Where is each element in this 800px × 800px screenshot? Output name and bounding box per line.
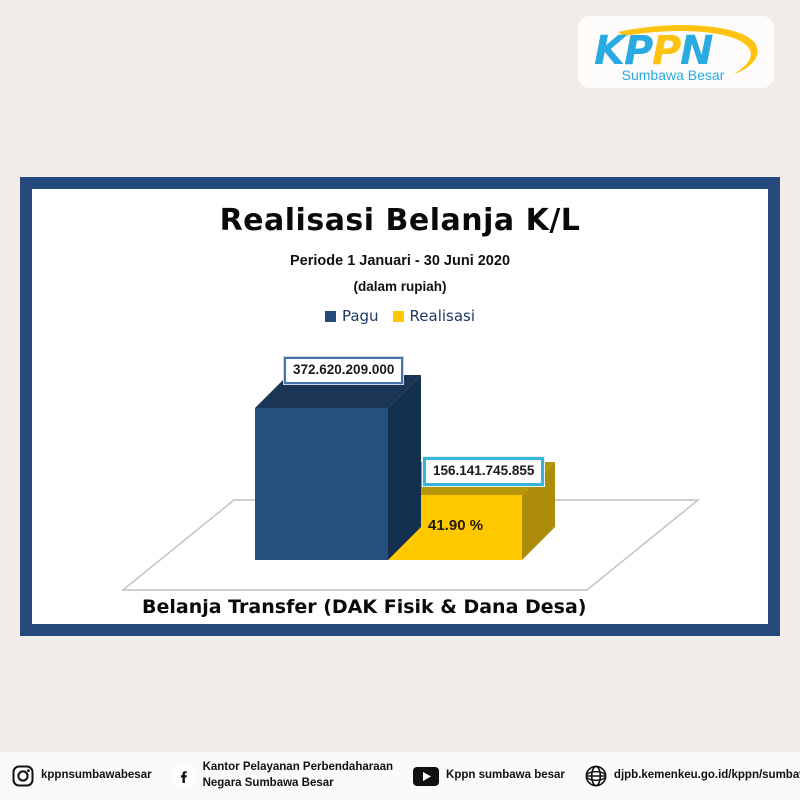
kppn-logo-card: K P P N Sumbawa Besar [578, 16, 774, 88]
youtube-icon [413, 767, 439, 786]
footer-label-facebook: Kantor Pelayanan PerbendaharaanNegara Su… [203, 760, 393, 791]
footer-label-website: djpb.kemenkeu.go.id/kppn/sumbawabesar [614, 768, 800, 784]
chart-plot-area [32, 189, 768, 624]
logo-subtitle: Sumbawa Besar [622, 67, 725, 83]
kppn-logo: K P P N Sumbawa Besar [578, 16, 774, 88]
facebook-icon [172, 764, 196, 788]
footer-item-facebook[interactable]: Kantor Pelayanan PerbendaharaanNegara Su… [172, 760, 393, 791]
footer-item-instagram[interactable]: kppnsumbawabesar [12, 765, 152, 787]
footer-label-youtube: Kppn sumbawa besar [446, 768, 565, 784]
bar-pagu-front[interactable] [255, 408, 388, 560]
chart-panel: Realisasi Belanja K/L Periode 1 Januari … [20, 177, 780, 636]
footer-label-instagram: kppnsumbawabesar [41, 768, 152, 784]
data-label-percent: 41.90 % [428, 517, 483, 534]
chart-canvas: Realisasi Belanja K/L Periode 1 Januari … [32, 189, 768, 624]
data-label-pagu: 372.620.209.000 [284, 357, 403, 384]
footer-label-facebook-line1: Kantor Pelayanan Perbendaharaan [203, 761, 393, 773]
footer-bar: kppnsumbawabesar Kantor Pelayanan Perben… [0, 752, 800, 800]
data-label-realisasi: 156.141.745.855 [423, 457, 544, 486]
category-axis-label: Belanja Transfer (DAK Fisik & Dana Desa) [142, 596, 587, 618]
footer-item-youtube[interactable]: Kppn sumbawa besar [413, 767, 565, 786]
instagram-icon [12, 765, 34, 787]
footer-item-website[interactable]: djpb.kemenkeu.go.id/kppn/sumbawabesar [585, 765, 800, 787]
globe-icon [585, 765, 607, 787]
footer-label-facebook-line2: Negara Sumbawa Besar [203, 777, 334, 789]
